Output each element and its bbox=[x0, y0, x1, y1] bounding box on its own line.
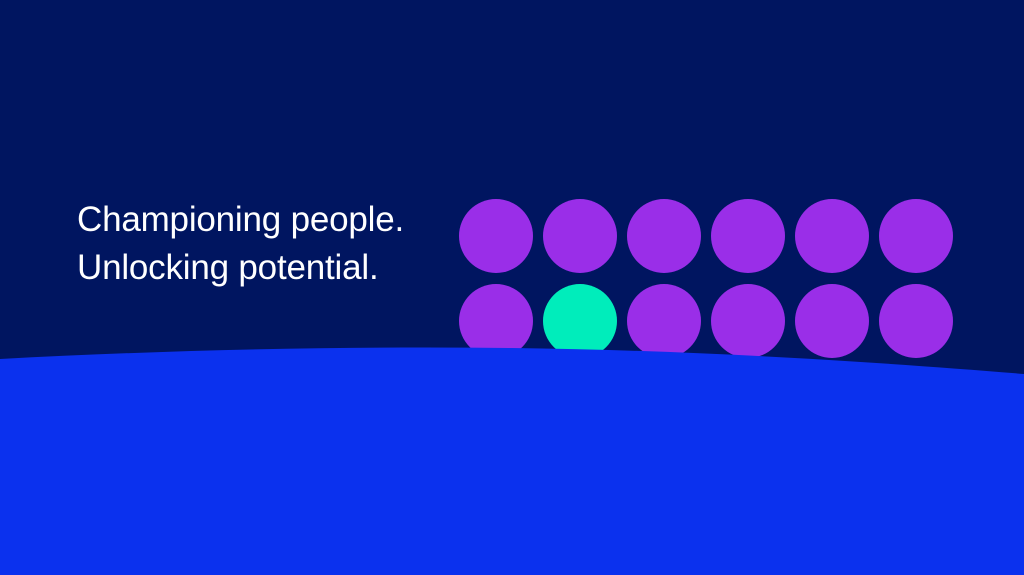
page-title: Championing people. Unlocking potential. bbox=[77, 196, 457, 292]
slide-canvas: Championing people. Unlocking potential. bbox=[0, 0, 1024, 575]
blue-curve-path bbox=[0, 347, 1024, 575]
headline-line-2: Unlocking potential. bbox=[77, 244, 457, 292]
headline-line-1: Championing people. bbox=[77, 196, 457, 244]
